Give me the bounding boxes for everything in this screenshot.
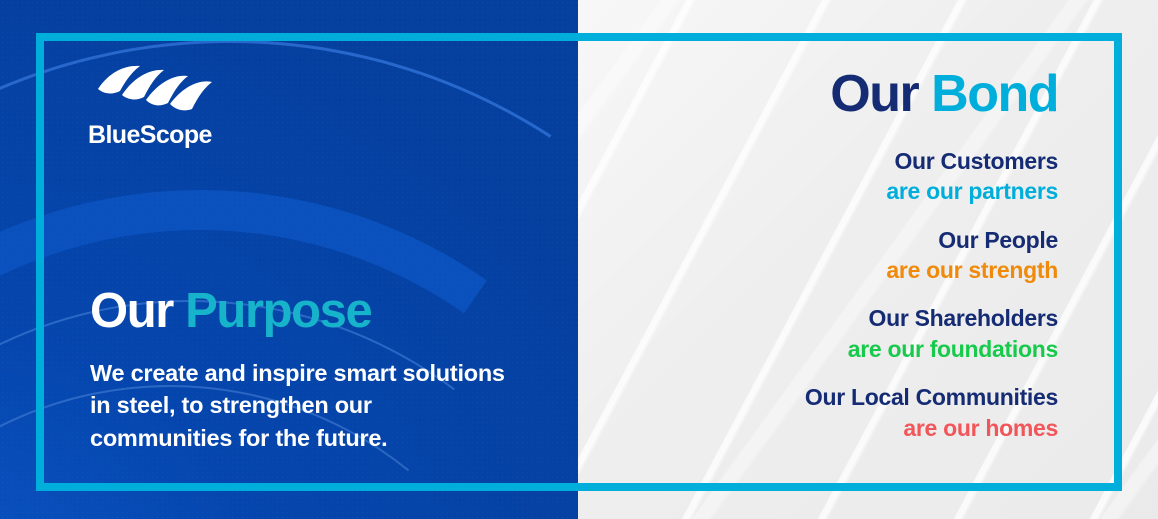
bond-item-subject: Our People [638,225,1058,255]
bond-item-subject: Our Shareholders [638,303,1058,333]
brand-logo: BlueScope [88,62,318,148]
bond-item-predicate: are our homes [638,413,1058,443]
purpose-title-word-purpose: Purpose [185,284,371,338]
purpose-title-word-our: Our [90,284,173,338]
bond-item-predicate: are our foundations [638,334,1058,364]
bond-title-word-our: Our [830,65,918,123]
purpose-content: Our Purpose We create and inspire smart … [90,286,520,454]
purpose-title: Our Purpose [90,286,520,337]
bond-title: Our Bond [830,68,1058,120]
brand-wordmark: BlueScope [88,123,318,148]
bond-item-subject: Our Local Communities [638,382,1058,412]
bond-list: Our Customers are our partners Our Peopl… [638,146,1058,443]
bluescope-waves-logo-icon [96,62,214,116]
bond-item-shareholders: Our Shareholders are our foundations [638,303,1058,364]
purpose-statement: We create and inspire smart solutions in… [90,357,520,454]
slide-canvas: BlueScope Our Purpose We create and insp… [0,0,1158,519]
bond-item-subject: Our Customers [638,146,1058,176]
bond-item-local-communities: Our Local Communities are our homes [638,382,1058,443]
bond-item-predicate: are our strength [638,255,1058,285]
bond-title-word-bond: Bond [931,65,1058,123]
bond-item-customers: Our Customers are our partners [638,146,1058,207]
bond-item-predicate: are our partners [638,176,1058,206]
bond-item-people: Our People are our strength [638,225,1058,286]
